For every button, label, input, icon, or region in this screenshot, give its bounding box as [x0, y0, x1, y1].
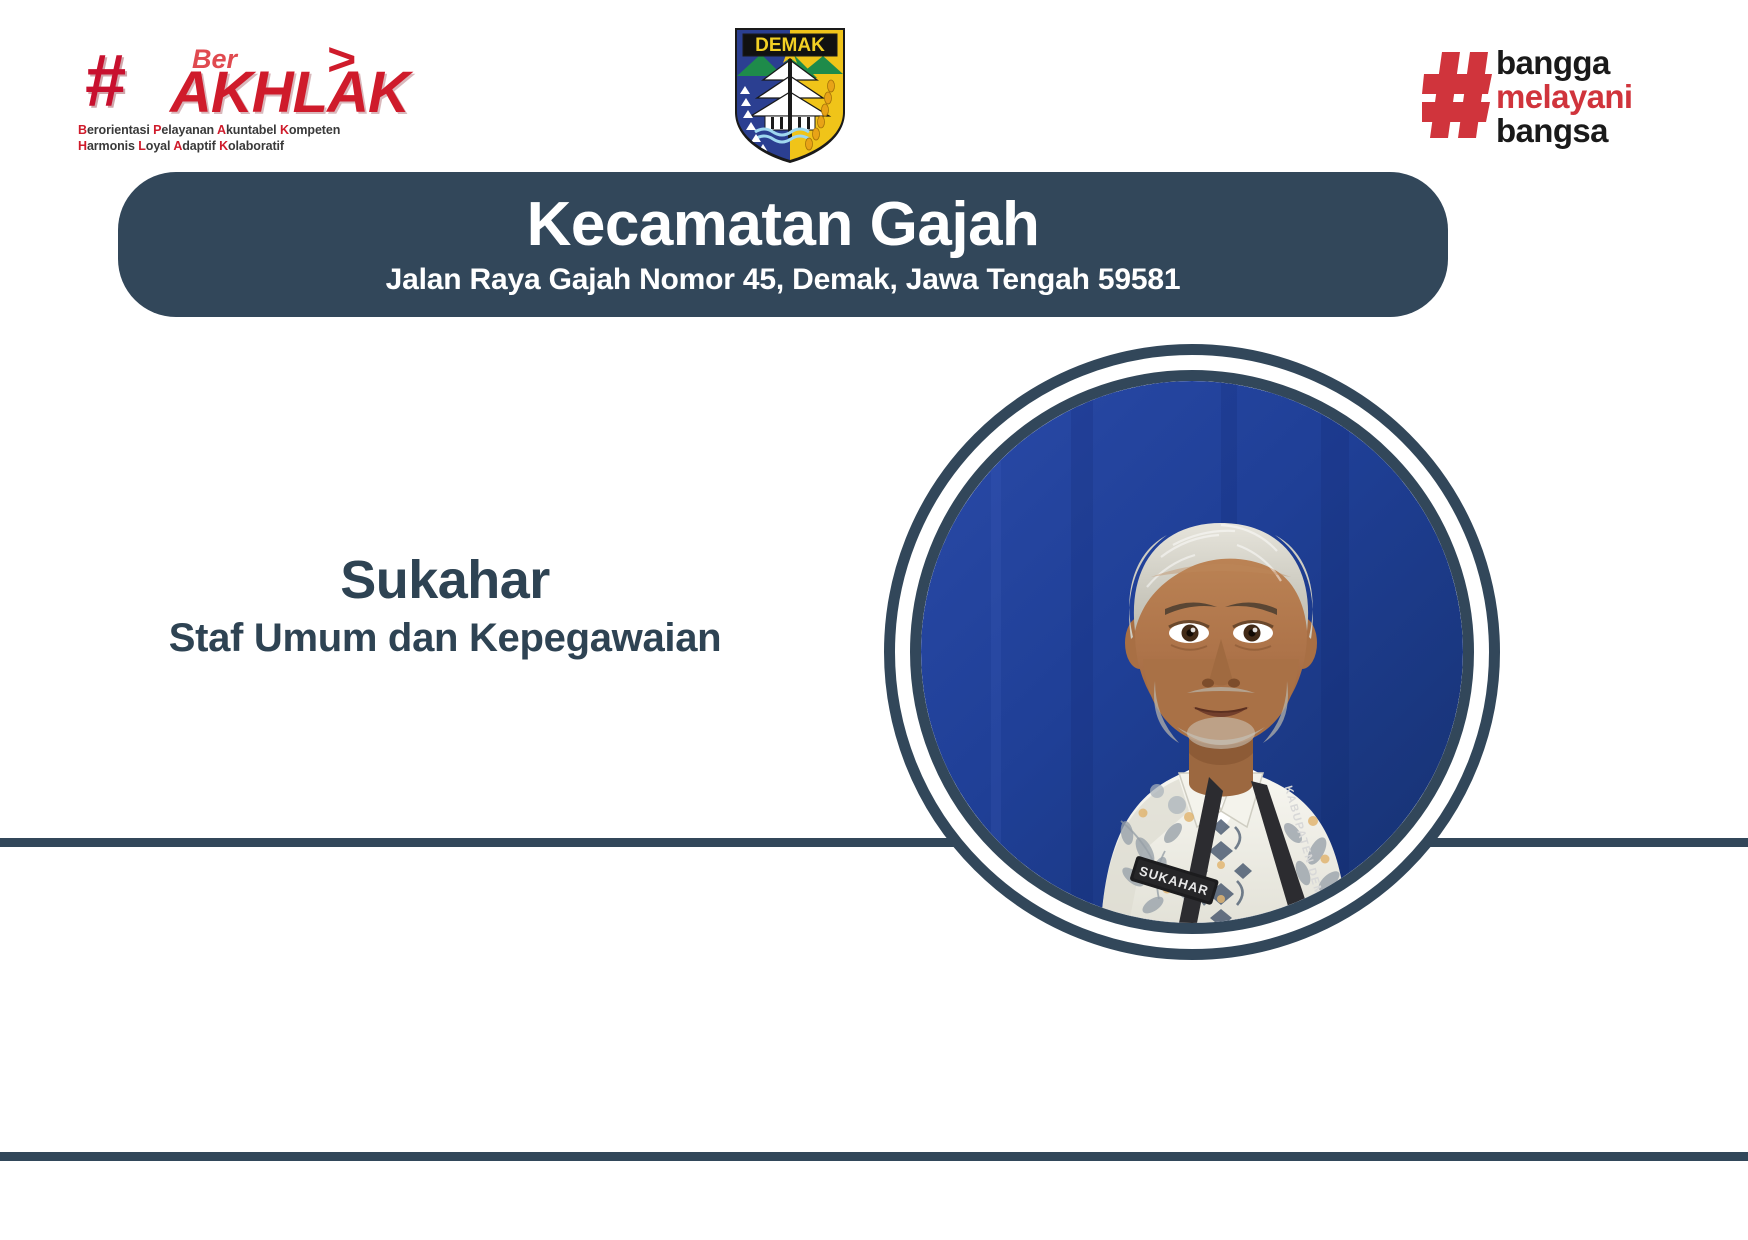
header-banner: Kecamatan Gajah Jalan Raya Gajah Nomor 4… [118, 172, 1448, 317]
bangga-line-3: bangsa [1496, 114, 1632, 148]
hash-icon: # [84, 44, 121, 118]
bangga-melayani-bangsa-logo: bangga melayani bangsa [1418, 44, 1688, 150]
bangga-line-1: bangga [1496, 46, 1632, 80]
chevron-right-icon: > [327, 37, 356, 83]
demak-banner-text: DEMAK [755, 35, 825, 56]
hash-icon [1422, 52, 1492, 138]
akhlak-word-text: AKHLAK [170, 64, 409, 122]
akhlak-logo-mark: # Ber AKHLAK > [78, 38, 378, 118]
office-address: Jalan Raya Gajah Nomor 45, Demak, Jawa T… [386, 262, 1181, 298]
person-role: Staf Umum dan Kepegawaian [0, 612, 890, 664]
akhlak-tagline: Berorientasi Pelayanan Akuntabel Kompete… [78, 122, 378, 154]
akhlak-logo: # Ber AKHLAK > Berorientasi Pelayanan Ak… [78, 38, 378, 156]
photo-ring-inner: KABUPATEN DEMAK SUKAHAR [910, 370, 1474, 934]
divider-bottom [0, 1152, 1748, 1161]
person-info: Sukahar Staf Umum dan Kepegawaian [0, 548, 890, 664]
logo-row: # Ber AKHLAK > Berorientasi Pelayanan Ak… [0, 0, 1748, 172]
portrait-photo-frame: KABUPATEN DEMAK SUKAHAR [884, 344, 1500, 960]
avatar: KABUPATEN DEMAK SUKAHAR [921, 381, 1463, 923]
page-title: Kecamatan Gajah [527, 192, 1040, 258]
bangga-line-2: melayani [1496, 80, 1632, 114]
demak-emblem-icon: DEMAK [731, 24, 849, 164]
person-name: Sukahar [0, 548, 890, 612]
bangga-text-block: bangga melayani bangsa [1496, 46, 1632, 148]
akhlak-tagline-line1: Berorientasi Pelayanan Akuntabel Kompete… [78, 122, 378, 138]
akhlak-tagline-line2: Harmonis Loyal Adaptif Kolaboratif [78, 138, 378, 154]
